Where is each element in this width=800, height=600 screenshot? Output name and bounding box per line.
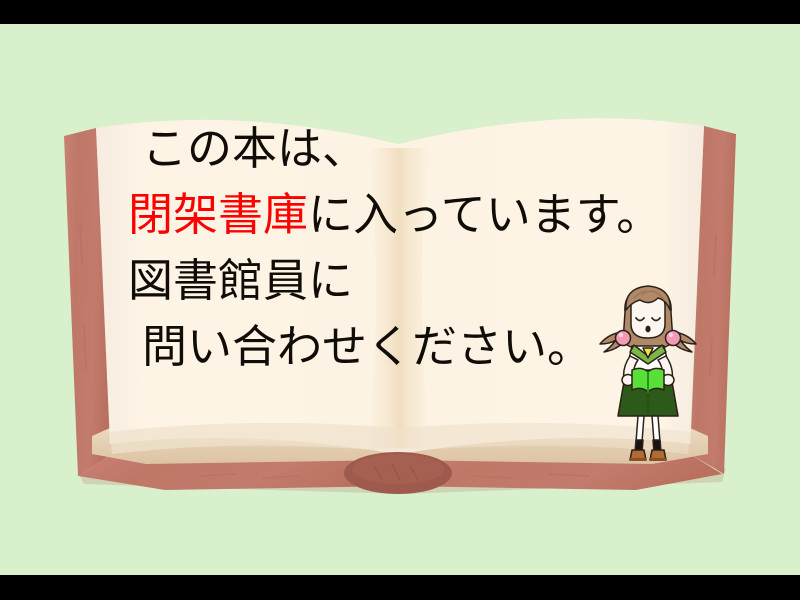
- mouth: [645, 326, 650, 333]
- book-spine-center-highlight: [352, 454, 444, 484]
- hairtie-right: [666, 331, 681, 346]
- message-line-1-text: この本は、: [142, 122, 367, 175]
- hairtie-right-highlight: [669, 333, 673, 337]
- girl-reading-illustration: [592, 276, 704, 466]
- leg-right: [652, 416, 660, 442]
- hairtie-left: [616, 331, 631, 346]
- message-line-3-text: 図書館員に: [128, 254, 353, 307]
- message-line-1: この本は、: [128, 116, 688, 182]
- held-book-left-page: [632, 368, 648, 392]
- hairtie-left-highlight: [619, 333, 623, 337]
- screenshot-canvas: この本は、 閉架書庫に入っています。 図書館員に 問い合わせください。: [0, 0, 800, 600]
- shoe-left-sole: [630, 458, 646, 461]
- shoe-right-sole: [650, 458, 666, 461]
- message-line-2-rest: に入っています。: [308, 188, 661, 241]
- letterbox-bottom: [0, 575, 800, 600]
- message-line-4-text: 問い合わせください。: [142, 320, 592, 373]
- message-line-2-highlight: 閉架書庫: [128, 188, 308, 241]
- held-book-right-page: [648, 368, 664, 392]
- message-line-2: 閉架書庫に入っています。: [128, 182, 688, 248]
- letterbox-top: [0, 0, 800, 24]
- leg-left: [636, 416, 644, 442]
